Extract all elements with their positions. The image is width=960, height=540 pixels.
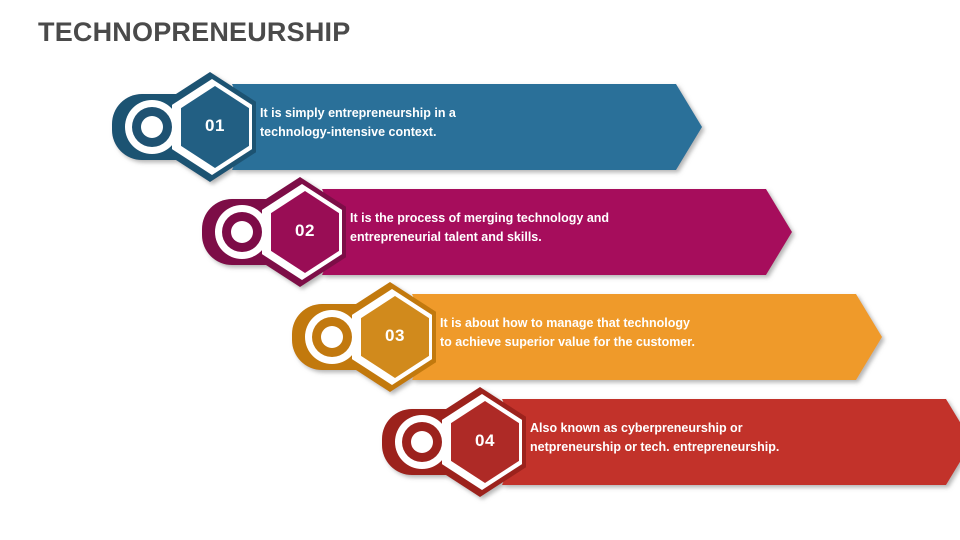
list-item[interactable]: 01It is simply entrepreneurship in a tec… [112,72,892,182]
step-number: 04 [455,431,515,451]
list-item[interactable]: 02It is the process of merging technolog… [202,177,960,287]
step-description: It is the process of merging technology … [350,209,760,248]
page-title: TECHNOPRENEURSHIP [38,17,350,48]
list-item[interactable]: 03It is about how to manage that technol… [292,282,960,392]
target-circle-icon [125,100,179,154]
target-circle-icon [395,415,449,469]
step-number: 01 [185,116,245,136]
target-circle-icon [215,205,269,259]
list-item[interactable]: 04Also known as cyberpreneurship or netp… [382,387,960,497]
step-description: It is simply entrepreneurship in a techn… [260,104,670,143]
step-description: Also known as cyberpreneurship or netpre… [530,419,940,458]
step-description: It is about how to manage that technolog… [440,314,850,353]
target-circle-icon [305,310,359,364]
step-number: 03 [365,326,425,346]
slide-canvas: TECHNOPRENEURSHIP 01It is simply entrepr… [0,0,960,540]
step-number: 02 [275,221,335,241]
